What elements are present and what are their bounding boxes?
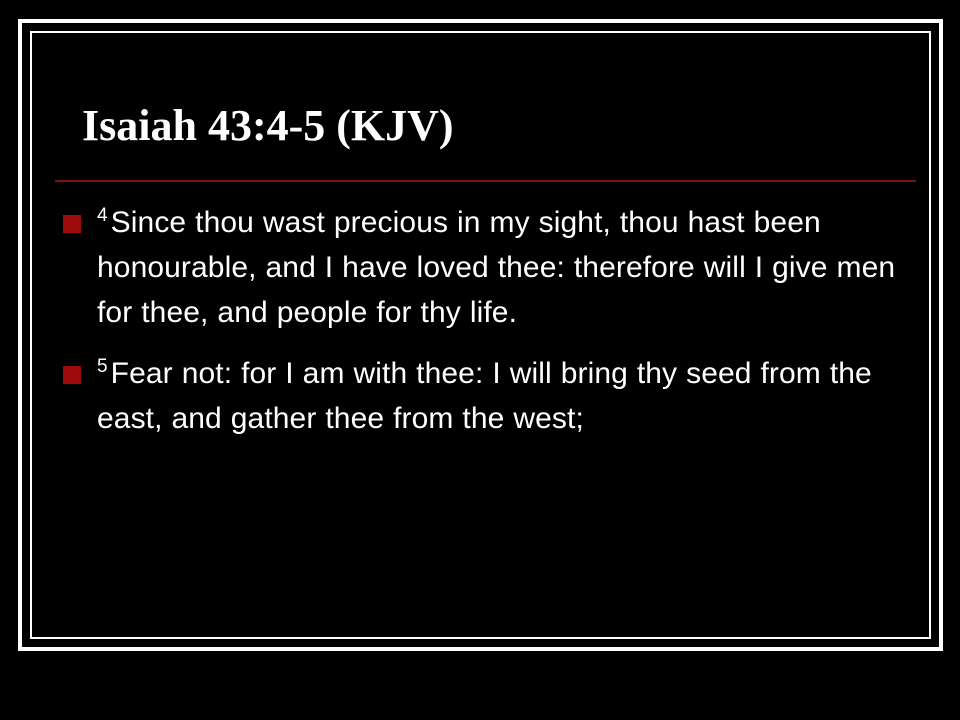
verse-number: 5 — [97, 356, 111, 377]
verse-text: Fear not: for I am with thee: I will bri… — [97, 357, 872, 435]
square-bullet-icon — [63, 215, 81, 233]
slide-content-area: Isaiah 43:4-5 (KJV) 4Since thou wast pre… — [36, 37, 925, 633]
bullet-text: 5Fear not: for I am with thee: I will br… — [97, 357, 872, 435]
list-item: 4Since thou wast precious in my sight, t… — [48, 200, 923, 335]
slide-title: Isaiah 43:4-5 (KJV) — [82, 101, 454, 151]
list-item: 5Fear not: for I am with thee: I will br… — [48, 351, 923, 441]
square-bullet-icon — [63, 366, 81, 384]
verse-number: 4 — [97, 205, 111, 226]
bullet-text: 4Since thou wast precious in my sight, t… — [97, 206, 895, 329]
presentation-slide: Isaiah 43:4-5 (KJV) 4Since thou wast pre… — [0, 0, 960, 720]
title-divider-rule — [55, 180, 916, 182]
verse-text: Since thou wast precious in my sight, th… — [97, 206, 895, 329]
slide-body: 4Since thou wast precious in my sight, t… — [48, 200, 923, 457]
